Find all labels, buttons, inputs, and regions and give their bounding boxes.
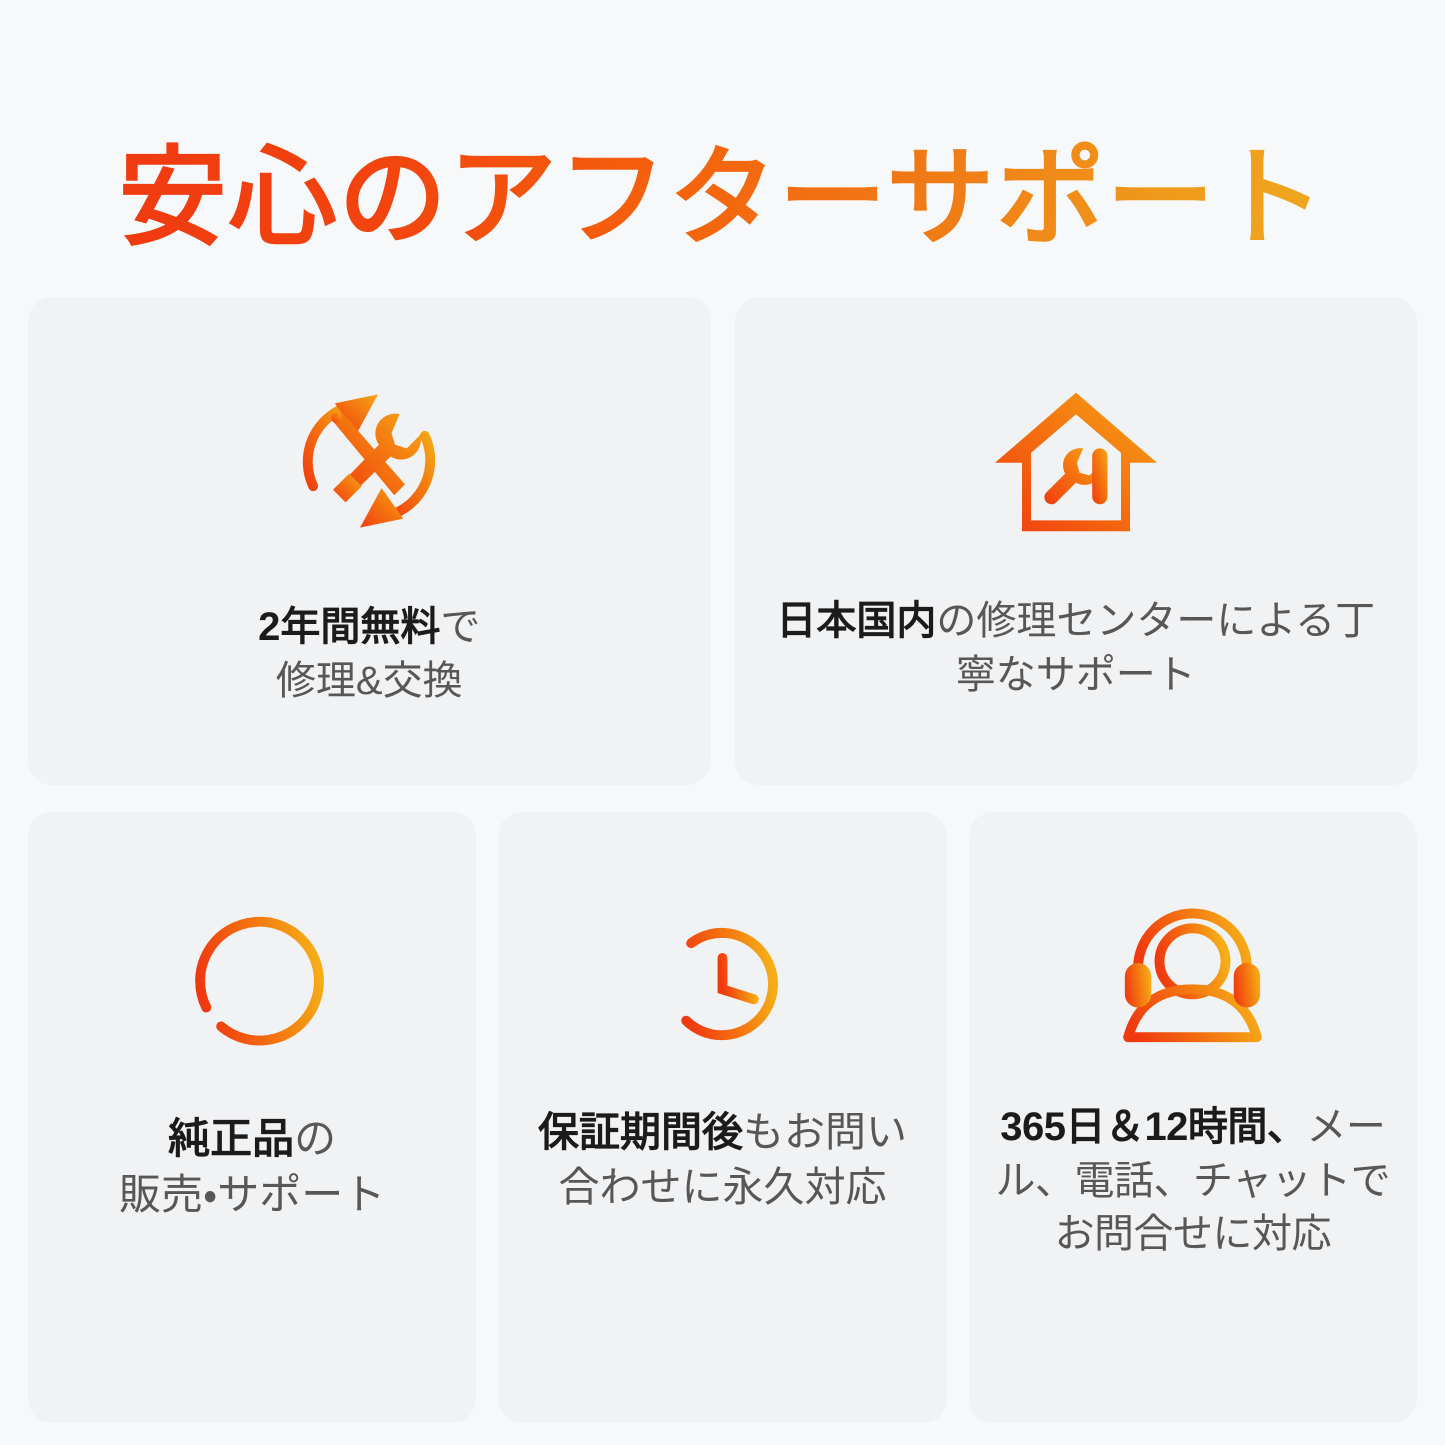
feature-caption-highlight: 365日＆12時間、 [1000,1105,1306,1149]
feature-caption-highlight: 2年間無料 [258,605,440,649]
feature-card-genuine-product: 純正品の 販売・サポート [28,812,476,1423]
feature-card-warranty-repair: 2年間無料で 修理&交換 [28,297,711,785]
headset-agent-icon [1110,892,1275,1057]
feature-caption-rest: で [440,605,480,649]
feature-caption-line2: 修理&交換 [276,659,463,703]
feature-card-domestic-repair-center: 日本国内の修理センターによる丁寧なサポート [735,297,1418,785]
feature-caption-highlight: 保証期間後 [538,1109,743,1155]
feature-caption-highlight: 純正品 [168,1115,294,1162]
feature-caption-line2: 販売・サポート [119,1171,385,1218]
sei-character-circle-icon [170,892,335,1057]
feature-row-top: 2年間無料で 修理&交換 日本国内の修理センターによる丁寧なサポート [28,297,1417,785]
after-sales-support-page: 安心のアフターサポート [0,0,1445,1445]
feature-caption-rest: の [294,1115,336,1162]
feature-row-bottom: 純正品の 販売・サポート [28,812,1417,1423]
feature-caption: 2年間無料で 修理&交換 [258,601,480,708]
feature-card-contact-channels: 365日＆12時間、メール、電話、チャットでお問合せに対応 [969,812,1417,1423]
wrench-screwdriver-refresh-icon [279,371,459,551]
page-title: 安心のアフターサポート [119,134,1327,261]
feature-card-post-warranty-support: 保証期間後もお問い合わせに永久対応 [498,812,946,1423]
page-title-wrap: 安心のアフターサポート [0,62,1445,334]
feature-caption-highlight: 日本国内 [776,599,936,643]
feature-caption: 純正品の 販売・サポート [119,1111,385,1224]
feature-caption: 日本国内の修理センターによる丁寧なサポート [763,595,1390,702]
feature-caption: 365日＆12時間、メール、電話、チャットでお問合せに対応 [991,1101,1395,1262]
house-tools-icon [986,371,1166,551]
fast-stopwatch-icon [640,892,805,1057]
feature-caption-rest: の修理センターによる丁寧なサポート [936,599,1375,697]
feature-caption: 保証期間後もお問い合わせに永久対応 [520,1105,924,1215]
